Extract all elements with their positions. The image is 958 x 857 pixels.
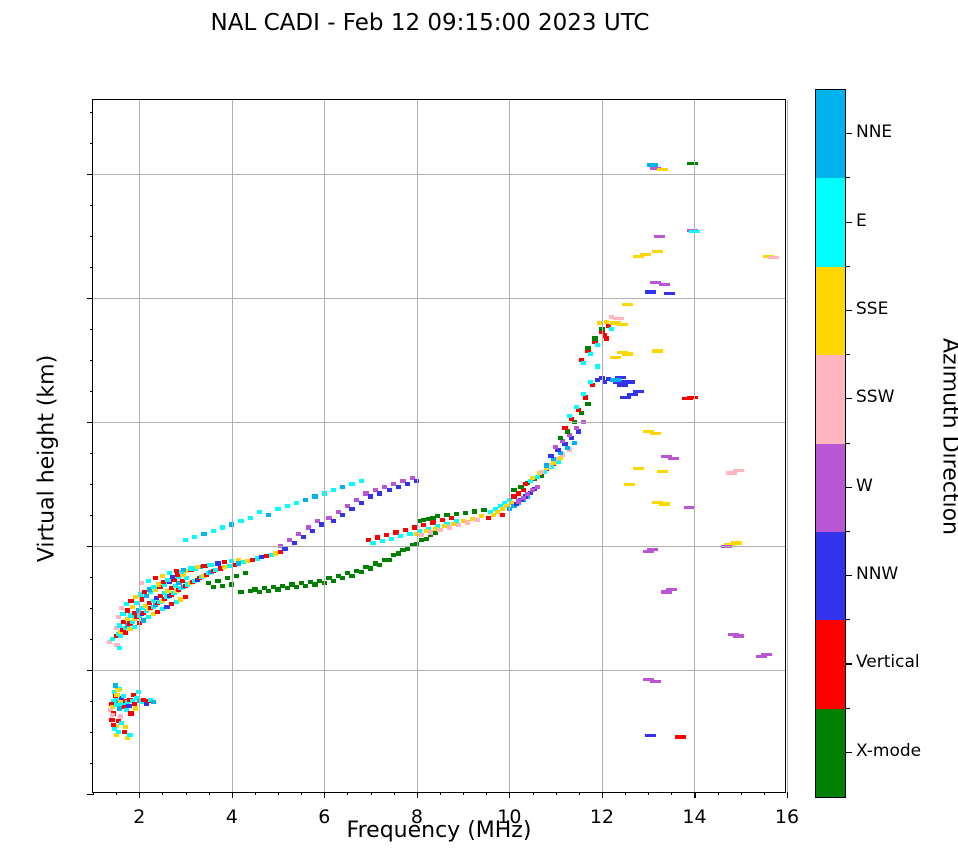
data-point [633, 467, 644, 470]
data-point [115, 688, 120, 692]
colorbar-label-nnw: NNW [856, 564, 898, 584]
y-axis-minor-tick [90, 608, 93, 609]
x-axis-minor-tick [440, 792, 441, 795]
colorbar-label-nne: NNE [856, 122, 892, 142]
y-axis-minor-tick [90, 732, 93, 733]
data-point [535, 475, 540, 479]
data-point [109, 718, 114, 722]
data-point [530, 476, 535, 480]
data-point [435, 514, 440, 518]
data-point [521, 496, 526, 500]
y-axis-minor-tick [90, 515, 93, 516]
data-point [659, 502, 670, 505]
y-axis-minor-tick [90, 639, 93, 640]
data-point [220, 584, 225, 588]
data-point [407, 532, 412, 536]
data-point [128, 599, 133, 603]
data-point [511, 488, 516, 492]
data-point [624, 380, 635, 383]
data-point [479, 514, 484, 518]
data-point [120, 612, 125, 616]
data-point [201, 564, 206, 568]
x-axis-tick [602, 792, 603, 798]
data-point [539, 470, 544, 474]
data-point [622, 352, 633, 355]
data-point [588, 380, 593, 384]
data-point [472, 509, 477, 513]
data-point [192, 535, 197, 539]
data-point [544, 463, 549, 467]
grid-line-horizontal [93, 174, 785, 175]
data-point [119, 606, 124, 610]
data-point [565, 446, 570, 450]
data-point [234, 574, 239, 578]
data-point [275, 507, 280, 511]
data-point [151, 700, 156, 704]
data-point [130, 605, 135, 609]
colorbar-segment-nne[interactable] [816, 90, 845, 179]
colorbar-boundary-tick [846, 354, 850, 355]
data-point [553, 445, 558, 449]
data-point [430, 516, 435, 520]
data-point [282, 547, 287, 551]
data-point [285, 586, 290, 590]
page-title: NAL CADI - Feb 12 09:15:00 2023 UTC [0, 10, 860, 36]
data-point [310, 529, 315, 533]
data-point [474, 518, 479, 522]
x-axis-minor-tick [533, 792, 534, 795]
data-point [349, 482, 354, 486]
y-axis-minor-tick [90, 267, 93, 268]
data-point [604, 336, 609, 340]
grid-line-vertical [139, 100, 140, 792]
data-point [486, 516, 491, 520]
data-point [201, 532, 206, 536]
data-point [243, 571, 248, 575]
data-point [604, 320, 609, 324]
data-point [301, 535, 306, 539]
colorbar-label-sse: SSE [856, 299, 888, 319]
data-point [620, 396, 631, 399]
data-point [184, 576, 189, 580]
x-axis-tick [139, 792, 140, 798]
plot-data-area [93, 100, 785, 792]
data-point [574, 405, 579, 409]
colorbar-segment-w[interactable] [816, 444, 845, 533]
grid-line-vertical [232, 100, 233, 792]
data-point [595, 364, 600, 368]
y-axis-minor-tick [90, 763, 93, 764]
data-point [238, 519, 243, 523]
data-point [160, 574, 165, 578]
x-axis-minor-tick [347, 792, 348, 795]
x-axis-minor-tick [556, 792, 557, 795]
data-point [312, 582, 317, 586]
x-axis-tick [509, 792, 510, 798]
colorbar-label-w: W [856, 476, 873, 496]
grid-line-horizontal [93, 422, 785, 423]
data-point [428, 530, 433, 534]
colorbar-label-ssw: SSW [856, 387, 894, 407]
data-point [257, 510, 262, 514]
colorbar-segment-sse[interactable] [816, 267, 845, 356]
grid-line-horizontal [93, 670, 785, 671]
colorbar-boundary-tick [846, 708, 850, 709]
data-point [661, 590, 672, 593]
data-point [645, 290, 656, 293]
y-axis-tick [87, 546, 93, 547]
data-point [340, 513, 345, 517]
data-point [396, 551, 401, 555]
data-point [652, 250, 663, 253]
data-point [122, 730, 127, 734]
data-point [340, 485, 345, 489]
data-point [525, 492, 530, 496]
x-axis-minor-tick [671, 792, 672, 795]
data-point [183, 538, 188, 542]
grid-line-vertical [787, 100, 788, 792]
data-point [595, 378, 600, 382]
data-point [424, 537, 429, 541]
y-axis-minor-tick [90, 205, 93, 206]
data-point [405, 547, 410, 551]
data-point [144, 594, 149, 598]
data-point [117, 623, 122, 627]
data-point [183, 595, 188, 599]
data-point [726, 471, 737, 474]
data-point [368, 494, 373, 498]
grid-line-vertical [509, 100, 510, 792]
colorbar-tick [846, 222, 852, 223]
data-point [768, 256, 779, 259]
data-point [572, 441, 577, 445]
x-axis-title: Frequency (MHz) [92, 818, 786, 843]
plot-axes: 24681012141602004006008001000 [92, 99, 786, 793]
data-point [208, 563, 213, 567]
x-axis-minor-tick [116, 792, 117, 795]
data-point [125, 608, 130, 612]
y-axis-minor-tick [90, 329, 93, 330]
data-point [359, 479, 364, 483]
grid-line-horizontal [93, 546, 785, 547]
x-axis-minor-tick [394, 792, 395, 795]
data-point [548, 454, 553, 458]
data-point [610, 378, 621, 381]
colorbar-boundary-tick [846, 266, 850, 267]
x-axis-minor-tick [648, 792, 649, 795]
data-point [465, 520, 470, 524]
data-point [592, 336, 597, 340]
data-point [624, 483, 635, 486]
data-point [368, 566, 373, 570]
data-point [331, 519, 336, 523]
data-point [516, 499, 521, 503]
x-axis-tick [694, 792, 695, 798]
colorbar-boundary-tick [846, 177, 850, 178]
data-point [562, 426, 567, 430]
colorbar-label-x-mode: X-mode [856, 741, 921, 761]
data-point [211, 585, 216, 589]
data-point [654, 235, 665, 238]
colorbar-segment-e[interactable] [816, 178, 845, 267]
data-point [211, 529, 216, 533]
data-point [116, 730, 121, 734]
data-point [303, 498, 308, 502]
x-axis-minor-tick [255, 792, 256, 795]
data-point [389, 537, 394, 541]
data-point [535, 485, 540, 489]
x-axis-minor-tick [718, 792, 719, 795]
x-axis-minor-tick [625, 792, 626, 795]
colorbar-label-vertical: Vertical [856, 652, 920, 672]
data-point [331, 488, 336, 492]
data-point [664, 292, 675, 295]
grid-line-vertical [602, 100, 603, 792]
colorbar-tick [846, 133, 852, 134]
colorbar-title: Azimuth Direction [938, 237, 958, 637]
data-point [558, 456, 563, 460]
data-point [215, 561, 220, 565]
data-point [421, 518, 426, 522]
data-point [581, 392, 586, 396]
data-point [756, 655, 767, 658]
data-point [454, 512, 459, 516]
y-axis-tick [87, 670, 93, 671]
data-point [581, 361, 586, 365]
data-point [652, 349, 663, 352]
colorbar-boundary-tick [846, 443, 850, 444]
data-point [437, 528, 442, 532]
data-point [574, 426, 579, 430]
data-point [248, 589, 253, 593]
x-axis-minor-tick [209, 792, 210, 795]
data-point [248, 516, 253, 520]
y-axis-minor-tick [90, 391, 93, 392]
colorbar-tick [846, 310, 852, 311]
data-point [349, 507, 354, 511]
data-point [585, 346, 590, 350]
data-point [153, 576, 158, 580]
data-point [588, 352, 593, 356]
data-point [294, 585, 299, 589]
data-point [617, 323, 628, 326]
data-point [687, 162, 698, 165]
grid-line-vertical [694, 100, 695, 792]
data-point [668, 457, 679, 460]
colorbar-segment-ssw[interactable] [816, 355, 845, 444]
data-point [127, 733, 132, 737]
grid-line-vertical [417, 100, 418, 792]
y-axis-title: Virtual height (km) [35, 259, 60, 659]
data-point [609, 327, 614, 331]
colorbar-segment-vertical[interactable] [816, 620, 845, 709]
data-point [633, 255, 644, 258]
y-axis-minor-tick [90, 453, 93, 454]
colorbar-boundary-tick [846, 531, 850, 532]
x-axis-tick [787, 792, 788, 798]
x-axis-minor-tick [186, 792, 187, 795]
data-point [643, 550, 654, 553]
data-point [595, 343, 600, 347]
data-point [117, 646, 122, 650]
x-axis-minor-tick [741, 792, 742, 795]
data-point [133, 706, 138, 710]
data-point [220, 525, 225, 529]
data-point [622, 303, 633, 306]
data-point [675, 735, 686, 738]
data-point [633, 390, 644, 393]
data-point [124, 602, 129, 606]
data-point [405, 482, 410, 486]
data-point [167, 571, 172, 575]
data-point [380, 539, 385, 543]
data-point [125, 617, 130, 621]
x-axis-minor-tick [463, 792, 464, 795]
data-point [275, 587, 280, 591]
data-point [447, 525, 452, 529]
data-point [266, 589, 271, 593]
x-axis-minor-tick [579, 792, 580, 795]
data-point [530, 488, 535, 492]
grid-line-vertical [324, 100, 325, 792]
data-point [174, 569, 179, 573]
data-point [617, 383, 628, 386]
data-point [146, 579, 151, 583]
data-point [419, 533, 424, 537]
x-axis-minor-tick [301, 792, 302, 795]
data-point [285, 504, 290, 508]
data-point [650, 432, 661, 435]
data-point [370, 541, 375, 545]
data-point [292, 541, 297, 545]
data-point [377, 563, 382, 567]
data-point [659, 283, 670, 286]
data-point [114, 693, 119, 697]
data-point [558, 436, 563, 440]
colorbar-tick [846, 575, 852, 576]
y-axis-minor-tick [90, 360, 93, 361]
y-axis-minor-tick [90, 577, 93, 578]
y-axis-tick [87, 298, 93, 299]
colorbar[interactable] [815, 89, 846, 798]
data-point [225, 576, 230, 580]
data-point [266, 513, 271, 517]
data-point [181, 568, 186, 572]
data-point [123, 725, 128, 729]
colorbar-tick [846, 398, 852, 399]
data-point [257, 590, 262, 594]
x-axis-minor-tick [486, 792, 487, 795]
data-point [387, 488, 392, 492]
colorbar-tick [846, 663, 852, 664]
data-point [110, 713, 115, 717]
data-point [331, 579, 336, 583]
y-axis-minor-tick [90, 236, 93, 237]
colorbar-segment-x-mode[interactable] [816, 709, 845, 798]
x-axis-minor-tick [162, 792, 163, 795]
data-point [195, 565, 200, 569]
data-point [733, 634, 744, 637]
data-point [132, 625, 137, 629]
data-point [126, 704, 131, 708]
data-point [188, 566, 193, 570]
x-axis-minor-tick [93, 792, 94, 795]
y-axis-minor-tick [90, 143, 93, 144]
data-point [657, 470, 668, 473]
data-point [682, 397, 693, 400]
data-point [303, 584, 308, 588]
grid-line-horizontal [93, 298, 785, 299]
data-point [551, 461, 556, 465]
y-axis-tick [87, 794, 93, 795]
data-point [398, 534, 403, 538]
data-point [387, 558, 392, 562]
colorbar-segment-nnw[interactable] [816, 532, 845, 621]
colorbar-boundary-tick [846, 619, 850, 620]
data-point [118, 714, 123, 718]
data-point [294, 501, 299, 505]
y-axis-minor-tick [90, 484, 93, 485]
data-point [312, 494, 317, 498]
data-point [657, 168, 668, 171]
data-point [627, 393, 638, 396]
x-axis-tick [232, 792, 233, 798]
data-point [610, 356, 621, 359]
data-point [349, 574, 354, 578]
data-point [111, 723, 116, 727]
data-point [128, 711, 133, 715]
data-point [123, 631, 128, 635]
data-point [481, 508, 486, 512]
x-axis-minor-tick [764, 792, 765, 795]
colorbar-tick [846, 752, 852, 753]
data-point [463, 511, 468, 515]
y-axis-minor-tick [90, 701, 93, 702]
data-point [444, 513, 449, 517]
data-point [647, 163, 658, 166]
ionogram-figure: NAL CADI - Feb 12 09:15:00 2023 UTC 2468… [0, 0, 958, 857]
data-point [340, 576, 345, 580]
data-point [645, 734, 656, 737]
x-axis-tick [417, 792, 418, 798]
data-point [650, 680, 661, 683]
y-axis-minor-tick [90, 112, 93, 113]
y-axis-tick [87, 422, 93, 423]
data-point [456, 523, 461, 527]
data-point [359, 501, 364, 505]
data-point [613, 317, 624, 320]
data-point [585, 402, 590, 406]
x-axis-tick [324, 792, 325, 798]
data-point [500, 513, 505, 517]
colorbar-label-e: E [856, 211, 867, 231]
x-axis-minor-tick [278, 792, 279, 795]
y-axis-tick [87, 174, 93, 175]
data-point [377, 491, 382, 495]
x-axis-minor-tick [371, 792, 372, 795]
data-point [567, 414, 572, 418]
data-point [396, 485, 401, 489]
data-point [359, 570, 364, 574]
data-point [121, 694, 126, 698]
data-point [215, 579, 220, 583]
data-point [238, 590, 243, 594]
colorbar-tick [846, 487, 852, 488]
